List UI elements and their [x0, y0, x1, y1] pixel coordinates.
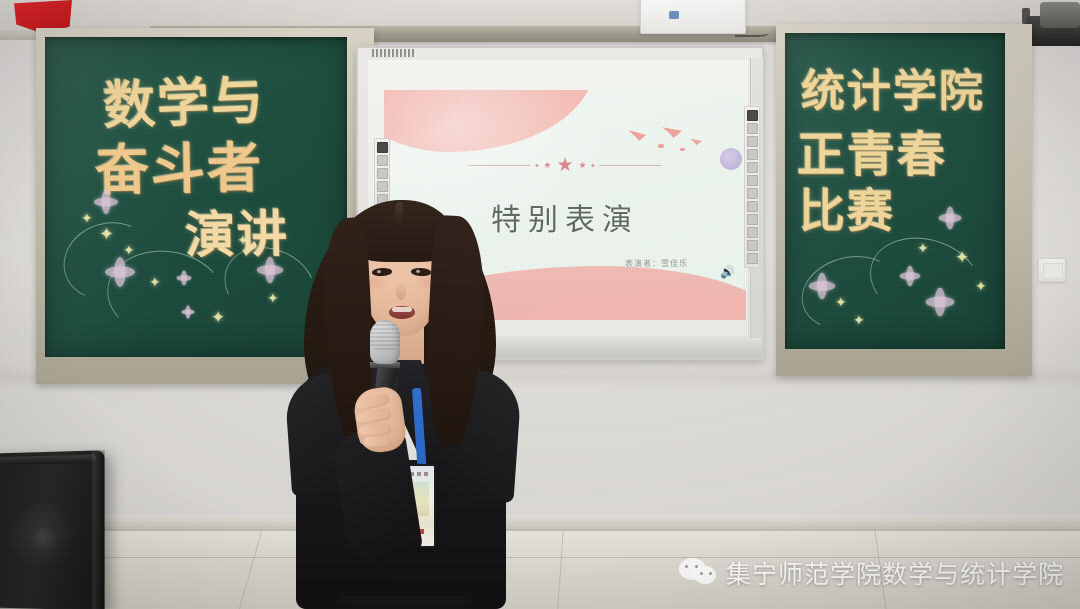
right-board-line-3: 比赛 [799, 175, 895, 241]
divider-dot [592, 164, 595, 167]
slide-subtitle: 表演者：雪佳乐 [625, 258, 688, 269]
tool-grid-icon[interactable] [747, 201, 758, 212]
projector-light-orb [720, 148, 742, 170]
baseboard [0, 515, 1080, 531]
mouth [389, 306, 415, 319]
chalk-sparkle: ✦ [955, 249, 969, 266]
star-icon: ★ [543, 161, 551, 170]
chalk-sparkle: ✦ [835, 295, 847, 309]
slide-birds-decor [628, 124, 724, 160]
whiteboard-toolbar-right[interactable] [744, 106, 760, 268]
loudspeaker-top [0, 455, 96, 466]
microphone-icon [370, 320, 400, 364]
slide-star-divider: ★ ★ ★ [468, 156, 661, 175]
chalk-sparkle: ✦ [267, 291, 279, 305]
chalk-sparkle: ✦ [81, 211, 93, 225]
volume-icon: 🔊 [720, 266, 734, 278]
star-icon: ★ [579, 161, 587, 170]
tool-save-icon[interactable] [747, 214, 758, 225]
wechat-icon [679, 558, 717, 588]
lower-body [336, 596, 472, 609]
chalk-flower [899, 265, 921, 287]
video-frame: 数学与 奋斗者 演讲 ✦ ✦ ✦ ✦ ✦ ✦ ✦ 统计学院 正青春 比赛 [0, 0, 1080, 609]
tool-page-icon[interactable] [747, 227, 758, 238]
right-blackboard: 统计学院 正青春 比赛 ✦ ✦ ✦ ✦ ✦ [776, 24, 1032, 376]
whiteboard-top-strip [372, 49, 416, 57]
tool-close-icon[interactable] [747, 253, 758, 264]
chalk-flower [93, 189, 119, 215]
chalk-sparkle: ✦ [975, 279, 987, 293]
divider-dot [535, 164, 538, 167]
tool-shape-icon[interactable] [747, 162, 758, 173]
chalk-sparkle: ✦ [853, 313, 865, 327]
ac-brand-badge [669, 11, 679, 19]
right-board-line-1: 统计学院 [801, 55, 985, 119]
bird-icon [662, 126, 682, 138]
chalk-sparkle: ✦ [99, 225, 114, 243]
chalk-flower [181, 305, 195, 319]
tool-image-icon[interactable] [747, 188, 758, 199]
chalk-sparkle: ✦ [149, 275, 161, 289]
chalk-flower [808, 272, 837, 301]
bird-icon [690, 137, 702, 145]
chalk-sparkle: ✦ [237, 233, 249, 247]
chalk-sparkle: ✦ [917, 241, 929, 255]
tool-more-icon[interactable] [747, 240, 758, 251]
star-icon: ★ [556, 156, 573, 175]
right-blackboard-surface: 统计学院 正青春 比赛 ✦ ✦ ✦ ✦ ✦ [785, 33, 1005, 349]
chalk-flower [104, 256, 137, 289]
loudspeaker-side [92, 450, 104, 609]
tool-pen-icon[interactable] [747, 123, 758, 134]
bird-icon [658, 144, 664, 148]
nose [396, 282, 406, 300]
watermark: 集宁师范学院数学与统计学院 [679, 555, 1064, 591]
loudspeaker-tweeter [32, 528, 58, 554]
chalk-flower [938, 206, 963, 231]
chalk-flower [256, 256, 285, 285]
left-board-line-2: 奋斗者 [94, 124, 263, 206]
chalk-sparkle: ✦ [211, 309, 225, 326]
watermark-text: 集宁师范学院数学与统计学院 [726, 555, 1064, 591]
ac-cable [735, 28, 769, 37]
tool-eraser-icon[interactable] [747, 149, 758, 160]
bird-icon [680, 148, 685, 151]
bird-icon [628, 130, 646, 141]
tool-select-icon[interactable] [747, 110, 758, 121]
chalk-flower [924, 286, 955, 317]
chalk-flower [176, 270, 192, 286]
divider-line-left [468, 165, 530, 166]
divider-line-right [600, 165, 662, 166]
microphone-grille [370, 320, 400, 350]
loudspeaker [0, 450, 105, 609]
tool-pointer-icon[interactable] [377, 142, 388, 153]
speaker-person [282, 178, 518, 609]
air-conditioner-unit [640, 0, 746, 34]
chalk-sparkle: ✦ [123, 243, 135, 257]
light-switch-rocker[interactable] [1043, 263, 1063, 279]
tool-marker-icon[interactable] [747, 136, 758, 147]
tool-pen-icon[interactable] [377, 155, 388, 166]
camera-icon [1040, 2, 1080, 28]
tool-text-icon[interactable] [747, 175, 758, 186]
light-switch[interactable] [1038, 258, 1066, 282]
